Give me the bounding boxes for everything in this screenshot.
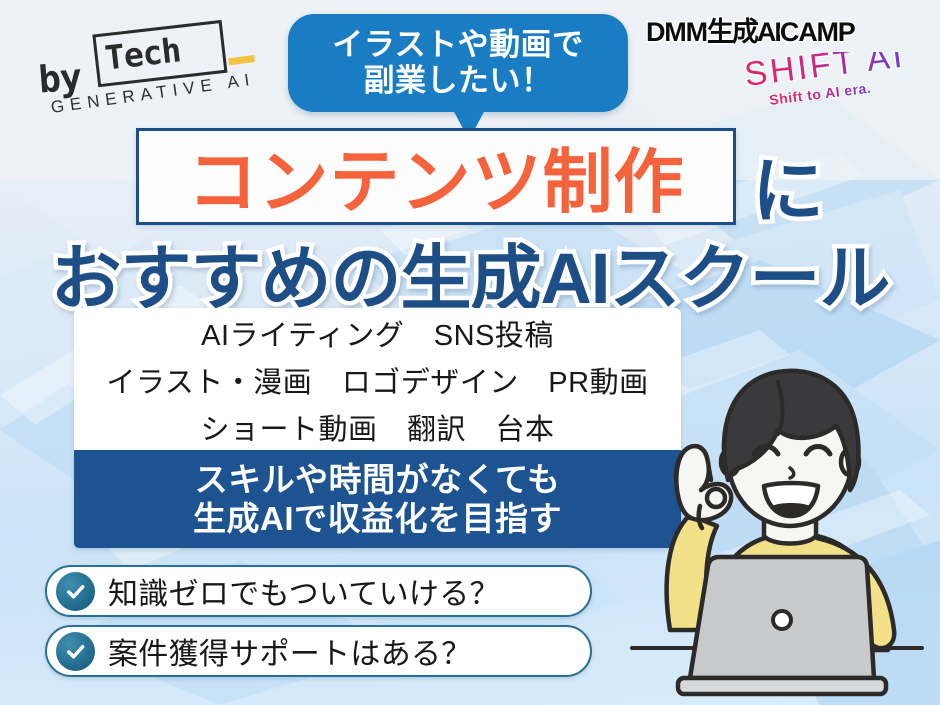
service-tag-row: イラスト・漫画 ロゴデザイン PR動画 xyxy=(106,359,648,401)
dmm-logo-prefix: DMM xyxy=(646,17,707,47)
check-icon xyxy=(56,632,95,671)
headline-boxed-text: コンテンツ制作 xyxy=(139,131,733,222)
dmm-logo-suffix: CAMP xyxy=(780,17,855,47)
check-pill[interactable]: 案件獲得サポートはある？ xyxy=(45,625,592,677)
dmm-logo: DMM生成AICAMP xyxy=(646,10,855,49)
highlight-banner: スキルや時間がなくても 生成AIで収益化を目指す xyxy=(74,450,681,548)
service-tag-row: ショート動画 翻訳 台本 xyxy=(200,406,554,448)
highlight-banner-line-2: 生成AIで収益化を目指す xyxy=(193,500,562,538)
check-pill-label: 案件獲得サポートはある？ xyxy=(108,629,472,673)
speech-bubble-line-1: イラストや動画で xyxy=(332,28,583,63)
dmm-logo-jp: 生成AI xyxy=(707,17,780,47)
highlight-banner-line-1: スキルや時間がなくても xyxy=(195,461,561,499)
check-pill-label: 知識ゼロでもついていける？ xyxy=(108,569,500,613)
service-tag-card: AIライティング SNS投稿 イラスト・漫画 ロゴデザイン PR動画 ショート動… xyxy=(74,308,681,450)
speech-bubble-text: イラストや動画で 副業したい！ xyxy=(288,14,628,112)
bytech-logo-accent-dash xyxy=(228,55,255,65)
headline-emphasis-box: コンテンツ制作 xyxy=(136,128,736,225)
service-tag-row: AIライティング SNS投稿 xyxy=(201,312,554,354)
speech-bubble: イラストや動画で 副業したい！ xyxy=(288,14,628,112)
shift-ai-logo: SHIFT AI Shift to AI era. xyxy=(742,52,937,114)
check-icon xyxy=(56,572,95,611)
bytech-logo: by Tech GENERATIVE AI xyxy=(31,13,268,123)
woman-with-laptop-illustration xyxy=(612,330,940,705)
check-pill[interactable]: 知識ゼロでもついていける？ xyxy=(45,565,592,617)
poster-canvas: by Tech GENERATIVE AI DMM生成AICAMP SHIFT … xyxy=(0,0,940,705)
speech-bubble-line-2: 副業したい！ xyxy=(364,64,553,99)
